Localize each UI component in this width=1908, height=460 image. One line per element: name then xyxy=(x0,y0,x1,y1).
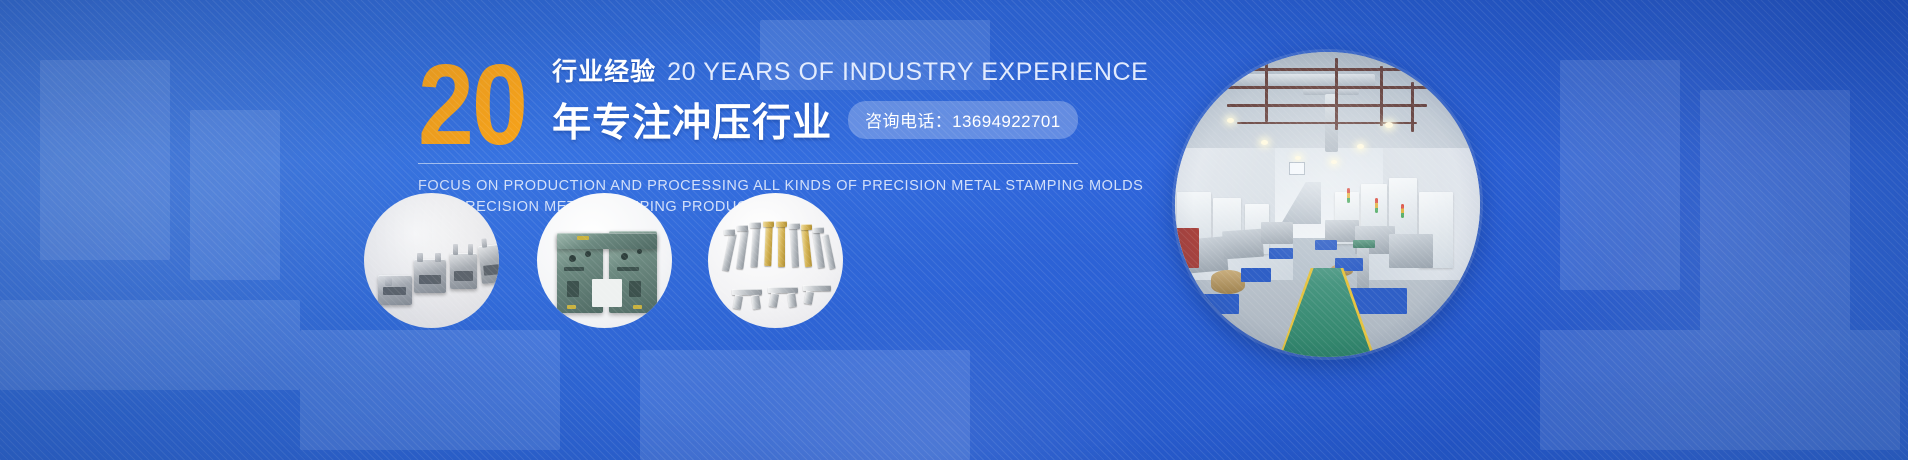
headline-row: 20 行业经验 20 YEARS OF INDUSTRY EXPERIENCE … xyxy=(418,44,1098,151)
phone-badge[interactable]: 咨询电话：13694922701 xyxy=(848,101,1077,139)
headline-line-1: 行业经验 20 YEARS OF INDUSTRY EXPERIENCE xyxy=(552,52,1148,88)
headline-line-2: 年专注冲压行业 咨询电话：13694922701 xyxy=(552,92,1148,148)
product-photo-stamping-die xyxy=(537,193,672,328)
experience-cn-label: 行业经验 xyxy=(552,52,656,88)
years-number: 20 xyxy=(418,52,526,157)
factory-photo xyxy=(1175,52,1480,357)
product-photo-terminal-pins xyxy=(708,193,843,328)
product-photo-usb-connectors xyxy=(364,193,499,328)
hero-banner: 20 行业经验 20 YEARS OF INDUSTRY EXPERIENCE … xyxy=(0,0,1908,460)
experience-en-label: 20 YEARS OF INDUSTRY EXPERIENCE xyxy=(667,58,1148,87)
main-headline-cn: 年专注冲压行业 xyxy=(552,92,832,148)
headline-text-group: 行业经验 20 YEARS OF INDUSTRY EXPERIENCE 年专注… xyxy=(552,44,1148,148)
